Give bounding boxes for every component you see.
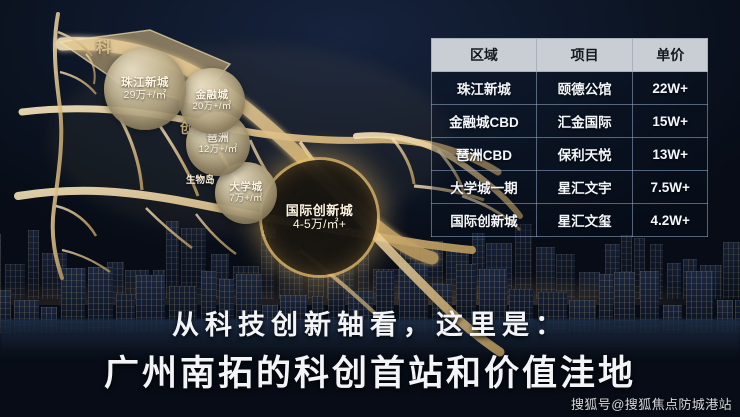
column-header-project: 项目 bbox=[536, 39, 633, 72]
building bbox=[166, 221, 179, 299]
building bbox=[71, 269, 86, 299]
table-header-row: 区域 项目 单价 bbox=[432, 39, 708, 72]
building bbox=[605, 244, 620, 299]
table-row: 金融城CBD汇金国际15W+ bbox=[432, 105, 708, 138]
building bbox=[181, 228, 206, 299]
building bbox=[486, 243, 512, 299]
building bbox=[579, 272, 600, 299]
price-table-head: 区域 项目 单价 bbox=[432, 39, 708, 72]
table-row: 珠江新城颐德公馆22W+ bbox=[432, 72, 708, 105]
map-bubble-name: 琶洲 bbox=[207, 133, 229, 145]
map-bubble-name: 大学城 bbox=[230, 182, 263, 194]
watermark: 搜狐号@搜狐焦点防城港站 bbox=[571, 394, 732, 413]
building bbox=[125, 270, 149, 299]
building bbox=[683, 259, 697, 299]
table-row: 琶洲CBD保利天悦13W+ bbox=[432, 138, 708, 171]
cell-region: 国际创新城 bbox=[432, 204, 537, 237]
cell-project: 颐德公馆 bbox=[536, 72, 633, 105]
map-label: 生物岛 bbox=[186, 172, 215, 186]
building bbox=[373, 269, 399, 299]
map-bubble: 金融城20万+/㎡ bbox=[179, 68, 245, 134]
price-table-body: 珠江新城颐德公馆22W+金融城CBD汇金国际15W+琶洲CBD保利天悦13W+大… bbox=[432, 72, 708, 237]
cell-project: 星汇文玺 bbox=[536, 204, 633, 237]
map-bubble-price: 7万+/㎡ bbox=[229, 194, 262, 205]
building bbox=[422, 241, 443, 299]
map-bubble-name: 国际创新城 bbox=[286, 204, 354, 219]
building bbox=[153, 270, 165, 299]
table-row: 国际创新城星汇文玺4.2W+ bbox=[432, 204, 708, 237]
building bbox=[650, 244, 663, 299]
cell-price: 15W+ bbox=[633, 105, 708, 138]
infographic-canvas: 珠江新城29万+/㎡金融城20万+/㎡琶洲12万+/㎡大学城7万+/㎡国际创新城… bbox=[0, 0, 740, 417]
cell-region: 琶洲CBD bbox=[432, 138, 537, 171]
building bbox=[634, 238, 645, 299]
building bbox=[472, 233, 485, 299]
map-bubble-price: 20万+/㎡ bbox=[193, 102, 232, 113]
headline-line-1: 从科技创新轴看，这里是： bbox=[0, 303, 740, 342]
building bbox=[211, 254, 229, 299]
map-bubble-price: 12万+/㎡ bbox=[199, 145, 238, 156]
cell-region: 珠江新城 bbox=[432, 72, 537, 105]
cell-project: 汇金国际 bbox=[536, 105, 633, 138]
cell-project: 星汇文宇 bbox=[536, 171, 633, 204]
building bbox=[536, 247, 555, 299]
cell-price: 13W+ bbox=[633, 138, 708, 171]
map-bubble-price: 29万+/㎡ bbox=[124, 90, 167, 102]
cell-price: 22W+ bbox=[633, 72, 708, 105]
map-bubble-price: 4-5万/㎡+ bbox=[293, 218, 346, 231]
city-glow-haze bbox=[0, 235, 740, 305]
map-bubble-name: 金融城 bbox=[196, 90, 229, 102]
building bbox=[233, 266, 259, 299]
building bbox=[723, 242, 740, 299]
building bbox=[90, 268, 104, 299]
column-header-price: 单价 bbox=[633, 39, 708, 72]
cell-project: 保利天悦 bbox=[536, 138, 633, 171]
building bbox=[0, 234, 1, 299]
map-bubble: 珠江新城29万+/㎡ bbox=[104, 48, 186, 130]
cell-region: 金融城CBD bbox=[432, 105, 537, 138]
building bbox=[42, 253, 67, 299]
building bbox=[107, 262, 124, 299]
map-bubble-name: 珠江新城 bbox=[121, 77, 169, 90]
building bbox=[667, 263, 681, 299]
price-table-container: 区域 项目 单价 珠江新城颐德公馆22W+金融城CBD汇金国际15W+琶洲CBD… bbox=[431, 38, 708, 237]
building bbox=[446, 249, 469, 299]
building bbox=[556, 254, 575, 299]
building bbox=[400, 240, 419, 299]
cell-price: 7.5W+ bbox=[633, 171, 708, 204]
axis-character: 科 bbox=[96, 36, 111, 57]
building bbox=[28, 230, 39, 299]
map-bubble: 国际创新城4-5万/㎡+ bbox=[262, 160, 377, 275]
price-table: 区域 项目 单价 珠江新城颐德公馆22W+金融城CBD汇金国际15W+琶洲CBD… bbox=[431, 38, 708, 237]
building bbox=[5, 264, 25, 299]
building bbox=[700, 265, 722, 299]
table-row: 大学城一期星汇文宇7.5W+ bbox=[432, 171, 708, 204]
headline-line-2: 广州南拓的科创首站和价值洼地 bbox=[0, 345, 740, 396]
cell-price: 4.2W+ bbox=[633, 204, 708, 237]
cell-region: 大学城一期 bbox=[432, 171, 537, 204]
column-header-region: 区域 bbox=[432, 39, 537, 72]
building bbox=[621, 235, 632, 299]
